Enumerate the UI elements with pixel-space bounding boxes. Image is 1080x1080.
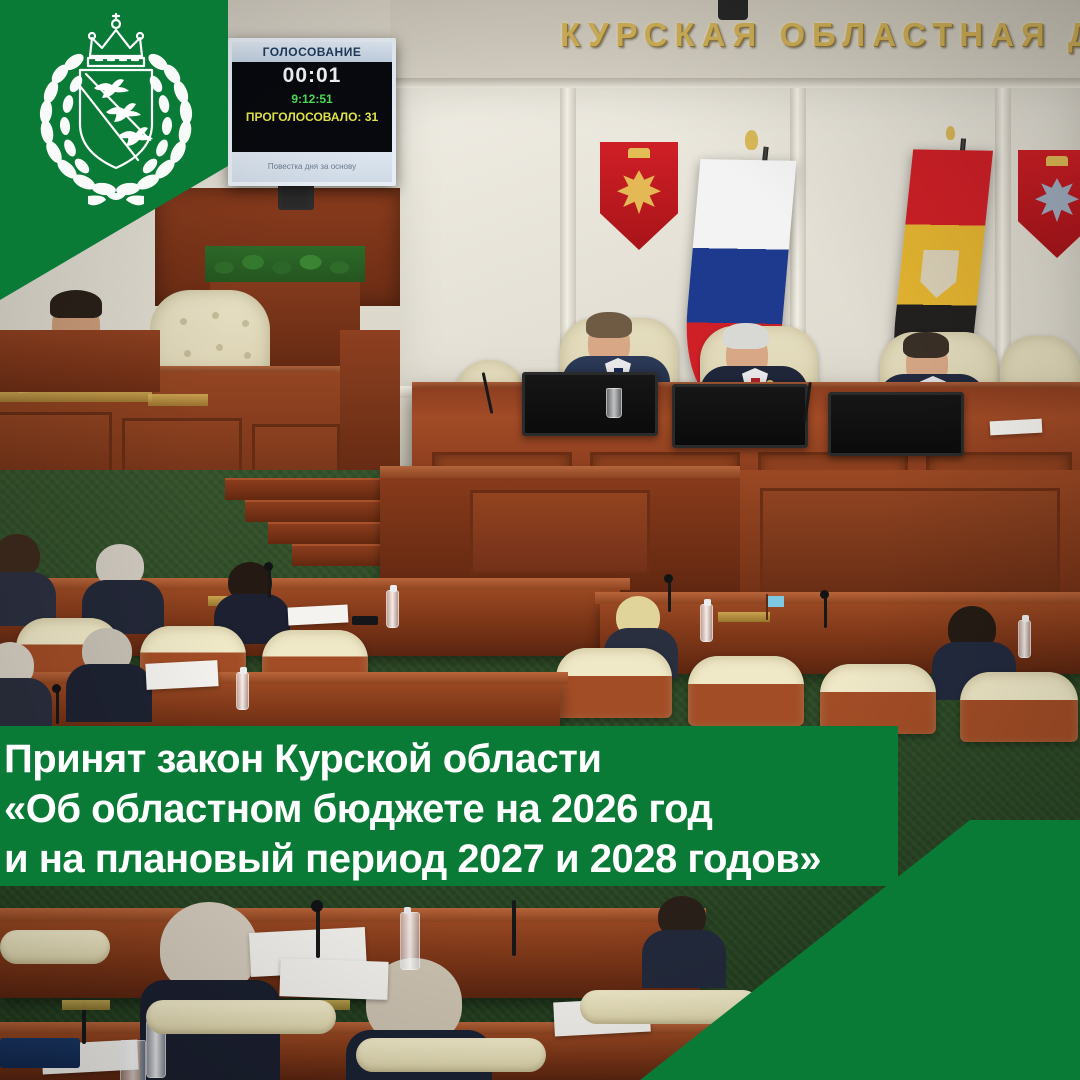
microphone-head bbox=[820, 590, 829, 599]
kursk-flag-emblem bbox=[918, 250, 959, 299]
presidium-laptop bbox=[672, 384, 808, 448]
kursk-oblast-coat-of-arms bbox=[18, 12, 214, 212]
chair-headrest bbox=[0, 930, 110, 964]
papers bbox=[145, 660, 218, 690]
deputy-chair bbox=[688, 656, 804, 726]
blue-folder bbox=[0, 1038, 80, 1068]
papers bbox=[990, 419, 1043, 436]
papers bbox=[279, 958, 388, 1000]
presidium-laptop bbox=[522, 372, 658, 436]
voting-display-screen: ГОЛОСОВАНИЕ 00:01 9:12:51 ПРОГОЛОСОВАЛО:… bbox=[228, 38, 396, 186]
podium-base-top bbox=[380, 466, 740, 478]
microphone-head bbox=[311, 900, 323, 912]
desk-microphone bbox=[268, 568, 271, 598]
caption-line-1: Принят закон Курской области bbox=[4, 734, 920, 784]
microphone-head bbox=[52, 684, 61, 693]
wall-gold-band bbox=[148, 394, 208, 406]
deputy-desk-top bbox=[0, 908, 706, 922]
voting-footer-note: Повестка дня за основу bbox=[232, 152, 392, 182]
wall-ledge bbox=[390, 78, 1080, 88]
partridges-icon bbox=[1035, 178, 1079, 222]
podium-base-panel bbox=[470, 490, 650, 574]
double-eagle-icon bbox=[617, 170, 661, 214]
water-bottle bbox=[386, 590, 399, 628]
voting-count: ПРОГОЛОСОВАЛО: 31 bbox=[232, 110, 392, 124]
chair-headrest bbox=[356, 1038, 546, 1072]
voting-clock: 9:12:51 bbox=[232, 92, 392, 106]
flag-finial bbox=[745, 130, 758, 150]
desk-microphone bbox=[512, 900, 516, 956]
papers bbox=[288, 604, 349, 625]
monitor-mount bbox=[282, 186, 308, 208]
hall-wood-panel bbox=[760, 488, 1060, 596]
microphone-head bbox=[264, 562, 273, 571]
desk-microphone bbox=[56, 690, 59, 724]
mini-flag bbox=[768, 596, 784, 607]
water-glass bbox=[120, 1040, 146, 1080]
phone bbox=[352, 616, 378, 625]
wood-wall-left bbox=[0, 330, 160, 392]
desk-microphone bbox=[824, 596, 827, 628]
caption-line-2: «Об областном бюджете на 2026 год bbox=[4, 784, 920, 834]
caption-line-3: и на плановый период 2027 и 2028 годов» bbox=[4, 834, 920, 884]
wall-pilaster bbox=[995, 88, 1011, 388]
presidium-laptop bbox=[828, 392, 964, 456]
decorative-plant bbox=[205, 246, 365, 282]
microphone-head bbox=[664, 574, 673, 583]
caption-text: Принят закон Курской области «Об областн… bbox=[0, 726, 920, 886]
water-glass bbox=[606, 388, 622, 418]
desk-microphone bbox=[668, 580, 671, 612]
voting-header: ГОЛОСОВАНИЕ bbox=[232, 42, 392, 62]
water-bottle bbox=[1018, 620, 1031, 658]
water-bottle bbox=[400, 912, 420, 970]
poster-canvas: КУРСКАЯ ОБЛАСТНАЯ ДУМА ГОЛОСОВАНИЕ 00:01 bbox=[0, 0, 1080, 1080]
deputy-chair bbox=[820, 664, 936, 734]
deputy-nameplate bbox=[62, 1000, 110, 1010]
hall-wall-sign: КУРСКАЯ ОБЛАСТНАЯ ДУМА bbox=[560, 16, 1080, 54]
water-bottle bbox=[236, 672, 249, 710]
voting-timer: 00:01 bbox=[232, 64, 392, 88]
deputy-chair bbox=[960, 672, 1078, 742]
chair-headrest bbox=[146, 1000, 336, 1034]
crown-icon bbox=[628, 148, 650, 158]
deputy-chair bbox=[556, 648, 672, 718]
water-bottle bbox=[700, 604, 713, 642]
crown-icon bbox=[1046, 156, 1068, 166]
flag-finial bbox=[946, 126, 955, 140]
deputy-nameplate bbox=[718, 612, 770, 622]
desk-microphone bbox=[316, 906, 320, 958]
